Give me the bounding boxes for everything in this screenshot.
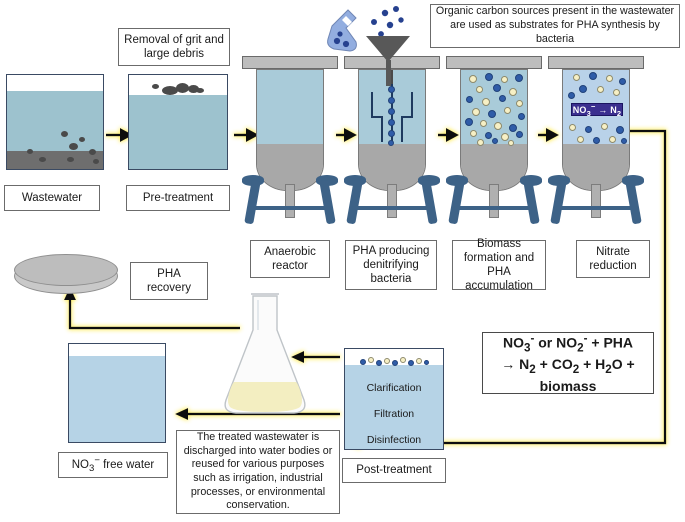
baffle-left-lower (381, 116, 383, 142)
note-organic-carbon: Organic carbon sources present in the wa… (430, 4, 680, 48)
reactor-cross-brace (352, 206, 434, 210)
arrow-biomass-to-nitrate (538, 128, 559, 142)
label-no3-free-water: NO3− free water (58, 452, 168, 478)
reactor-leg-left (448, 180, 465, 225)
arrow-pha-to-biomass (438, 128, 459, 142)
erlenmeyer-flask-icon (225, 294, 305, 413)
reactor-leg-left (346, 180, 363, 225)
post-treatment-step: Clarification (344, 382, 444, 394)
reactor-leg-right (523, 180, 540, 225)
label-post-treatment: Post-treatment (342, 458, 446, 483)
reactor-outlet (285, 184, 295, 218)
petri-dish-lid (14, 254, 118, 286)
arrow-anaerobic-to-pha (336, 128, 357, 142)
baffle-right-lower (401, 116, 403, 142)
equation-line-3: biomass (540, 377, 597, 395)
label-nitrate-reduction: Nitrate reduction (576, 240, 650, 278)
no3-free-water-text: NO3− free water (72, 455, 155, 475)
arrow-to-flask (291, 351, 340, 363)
diagram-canvas: Wastewater Pre-treatment Removal of grit… (0, 0, 685, 522)
clean-water (69, 356, 165, 442)
label-wastewater: Wastewater (4, 185, 100, 211)
label-anaerobic-reactor: Anaerobic reactor (250, 240, 330, 278)
reactor-cross-brace (250, 206, 332, 210)
reactor-leg-right (625, 180, 642, 225)
reactor-liquid (257, 70, 323, 146)
wastewater-sediment (7, 151, 103, 169)
post-treatment-step: Disinfection (344, 434, 444, 446)
poured-droplets (371, 6, 404, 37)
equation-line-1: NO3- or NO2- + PHA (503, 331, 633, 356)
label-pha-recovery: PHA recovery (130, 262, 208, 300)
reactor-vessel (256, 69, 324, 191)
clean-water-tank (68, 343, 166, 443)
funnel-stem (386, 60, 391, 86)
label-biomass-formation: Biomass formation and PHA accumulation (452, 240, 546, 290)
label-pre-treatment: Pre-treatment (126, 185, 230, 211)
note-removal-of-grit: Removal of grit and large debris (118, 28, 230, 66)
reactor-leg-left (550, 180, 567, 225)
reactor-vessel (358, 69, 426, 191)
reactor-leg-left (244, 180, 261, 225)
funnel-icon (366, 36, 410, 62)
no3-tag-text: NO3− → N2 (573, 102, 622, 118)
post-treatment-step: Filtration (344, 408, 444, 420)
post-treatment-scum (356, 356, 434, 368)
baffle-right-upper (411, 92, 413, 118)
reactor-outlet (489, 184, 499, 218)
reactor-lid (548, 56, 644, 69)
reactor-outlet (591, 184, 601, 218)
grit-debris-pile (150, 82, 210, 96)
label-pha-producing: PHA producing denitrifying bacteria (345, 240, 437, 290)
arrow-post-to-cleanwater (175, 408, 340, 420)
reactor-vessel: NO3− → N2 (562, 69, 630, 191)
reactor-lid (242, 56, 338, 69)
no3-to-n2-tag: NO3− → N2 (571, 103, 623, 116)
reaction-equation-box: NO3- or NO2- + PHA → N2 + CO2 + H2O + bi… (482, 332, 654, 394)
pretreatment-water (129, 95, 227, 169)
reactor-cross-brace (556, 206, 638, 210)
note-treated-water: The treated wastewater is discharged int… (176, 430, 340, 514)
reactor-cross-brace (454, 206, 536, 210)
reactor-leg-right (319, 180, 336, 225)
flask-pour-icon (328, 10, 357, 51)
baffle-left-upper (371, 92, 373, 118)
reactor-lid (446, 56, 542, 69)
reactor-leg-right (421, 180, 438, 225)
reactor-outlet (387, 184, 397, 218)
equation-line-2: → N2 + CO2 + H2O + (501, 355, 634, 377)
reactor-vessel (460, 69, 528, 191)
wastewater-tank (6, 74, 104, 170)
